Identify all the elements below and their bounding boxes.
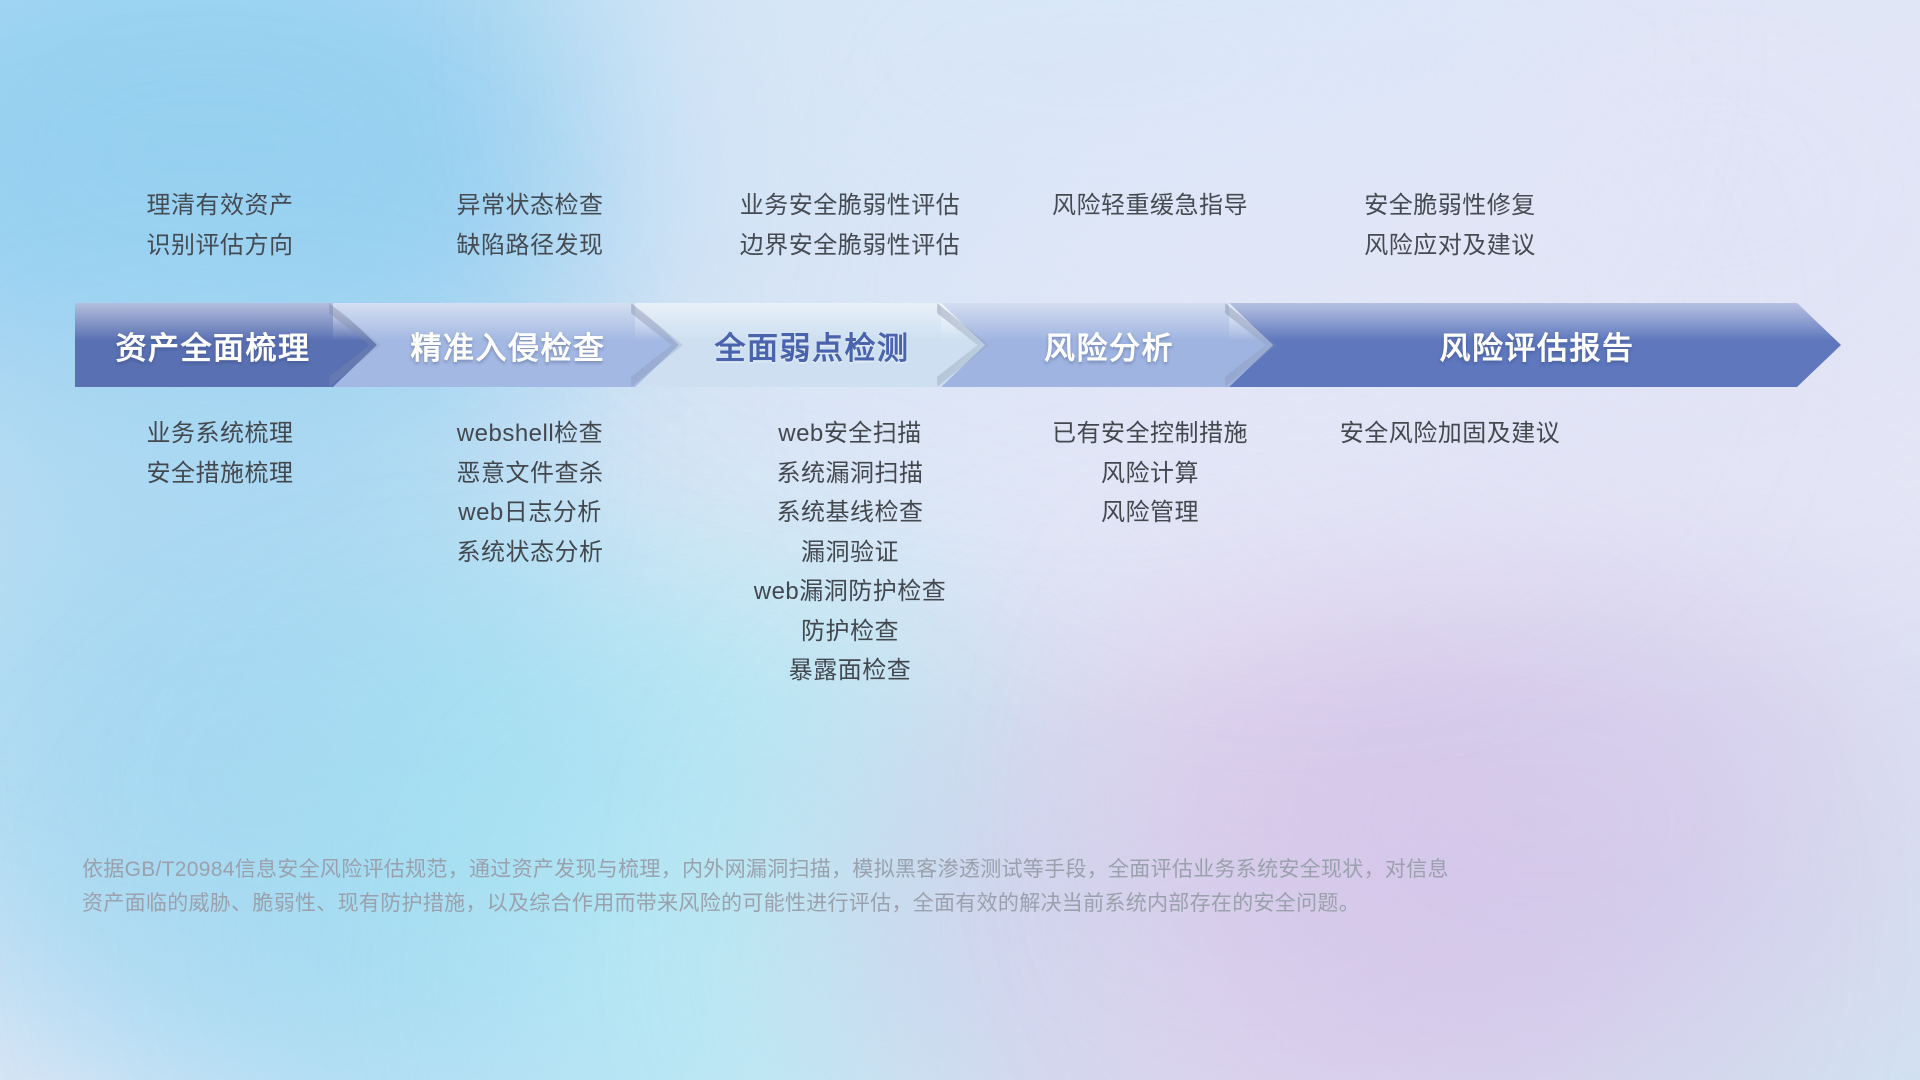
annotation-text: 安全脆弱性修复	[1300, 186, 1600, 226]
detail-text: 系统漏洞扫描	[700, 454, 1000, 494]
annotation-text: 风险应对及建议	[1300, 226, 1600, 266]
detail-text: 恶意文件查杀	[380, 454, 680, 494]
bottom-details-stage-5: 安全风险加固及建议	[1300, 414, 1600, 704]
annotation-text: 风险轻重缓急指导	[1020, 186, 1280, 226]
stage-banner-3[interactable]: 全面弱点检测	[635, 303, 985, 387]
detail-text: 系统状态分析	[380, 533, 680, 573]
stage-banner-label: 风险评估报告	[1229, 323, 1841, 368]
detail-text: 风险计算	[1020, 454, 1280, 494]
top-annotations-stage-2: 异常状态检查 缺陷路径发现	[380, 186, 680, 278]
annotation-text: 边界安全脆弱性评估	[700, 226, 1000, 266]
stage-banner-5[interactable]: 风险评估报告	[1229, 303, 1841, 387]
stage-banner-1[interactable]: 资产全面梳理	[75, 303, 377, 387]
detail-text: 系统基线检查	[700, 493, 1000, 533]
detail-text: 暴露面检查	[700, 651, 1000, 691]
stage-banner-label: 风险分析	[941, 323, 1273, 368]
footer-description: 依据GB/T20984信息安全风险评估规范，通过资产发现与梳理，内外网漏洞扫描，…	[82, 853, 1782, 921]
detail-text: 风险管理	[1020, 493, 1280, 533]
stage-banner-label: 精准入侵检查	[333, 323, 679, 368]
top-annotations-stage-1: 理清有效资产 识别评估方向	[80, 186, 360, 278]
detail-text: web安全扫描	[700, 414, 1000, 454]
top-annotations-row: 理清有效资产 识别评估方向 异常状态检查 缺陷路径发现 业务安全脆弱性评估 边界…	[80, 186, 1840, 278]
bottom-details-row: 业务系统梳理 安全措施梳理 webshell检查 恶意文件查杀 web日志分析 …	[80, 414, 1840, 704]
stage-banner-label: 全面弱点检测	[635, 323, 985, 368]
process-diagram: 理清有效资产 识别评估方向 异常状态检查 缺陷路径发现 业务安全脆弱性评估 边界…	[0, 0, 1920, 1080]
annotation-text: 异常状态检查	[380, 186, 680, 226]
bottom-details-stage-4: 已有安全控制措施 风险计算 风险管理	[1020, 414, 1280, 704]
stage-banner-2[interactable]: 精准入侵检查	[333, 303, 679, 387]
stage-banner-4[interactable]: 风险分析	[941, 303, 1273, 387]
annotation-text: 业务安全脆弱性评估	[700, 186, 1000, 226]
top-annotations-stage-4: 风险轻重缓急指导	[1020, 186, 1280, 278]
detail-text: 安全措施梳理	[80, 454, 360, 494]
bottom-details-stage-2: webshell检查 恶意文件查杀 web日志分析 系统状态分析	[380, 414, 680, 704]
stage-banner-band: 资产全面梳理 精准入侵检查 全面弱点检测 风险分析 风险评估报告	[75, 303, 1841, 387]
detail-text: 已有安全控制措施	[1020, 414, 1280, 454]
footer-line-2: 资产面临的威胁、脆弱性、现有防护措施，以及综合作用而带来风险的可能性进行评估，全…	[82, 887, 1782, 921]
annotation-text: 识别评估方向	[80, 226, 360, 266]
bottom-details-stage-3: web安全扫描 系统漏洞扫描 系统基线检查 漏洞验证 web漏洞防护检查 防护检…	[700, 414, 1000, 704]
bottom-details-stage-1: 业务系统梳理 安全措施梳理	[80, 414, 360, 704]
detail-text: web日志分析	[380, 493, 680, 533]
detail-text: 漏洞验证	[700, 533, 1000, 573]
stage-banner-label: 资产全面梳理	[75, 323, 377, 368]
footer-line-1: 依据GB/T20984信息安全风险评估规范，通过资产发现与梳理，内外网漏洞扫描，…	[82, 853, 1782, 887]
detail-text: 防护检查	[700, 612, 1000, 652]
top-annotations-stage-3: 业务安全脆弱性评估 边界安全脆弱性评估	[700, 186, 1000, 278]
detail-text: web漏洞防护检查	[700, 572, 1000, 612]
detail-text: 安全风险加固及建议	[1300, 414, 1600, 454]
detail-text: 业务系统梳理	[80, 414, 360, 454]
annotation-text: 理清有效资产	[80, 186, 360, 226]
annotation-text: 缺陷路径发现	[380, 226, 680, 266]
detail-text: webshell检查	[380, 414, 680, 454]
top-annotations-stage-5: 安全脆弱性修复 风险应对及建议	[1300, 186, 1600, 278]
